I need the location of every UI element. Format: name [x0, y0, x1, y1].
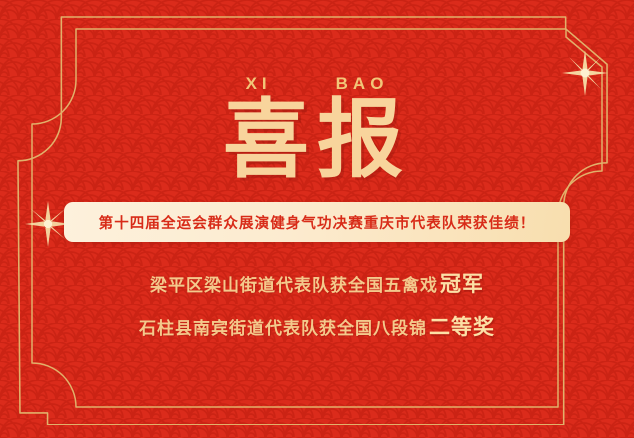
poster-content: XI BAO 喜报 第十四届全运会群众展演健身气功决赛重庆市代表队荣获佳绩！ 梁…: [0, 0, 634, 438]
achievement-list: 梁平区梁山街道代表队获全国五禽戏 冠军 石柱县南宾街道代表队获全国八段锦 二等奖: [139, 268, 495, 341]
achievement-body: 石柱县南宾街道代表队获全国八段锦: [139, 314, 427, 339]
achievement-award: 冠军: [440, 268, 484, 298]
headline-banner: 第十四届全运会群众展演健身气功决赛重庆市代表队荣获佳绩！: [64, 202, 570, 242]
achievement-body: 梁平区梁山街道代表队获全国五禽戏: [150, 271, 438, 296]
headline-text: 第十四届全运会群众展演健身气功决赛重庆市代表队荣获佳绩！: [99, 212, 536, 233]
list-item: 梁平区梁山街道代表队获全国五禽戏 冠军: [150, 268, 484, 298]
list-item: 石柱县南宾街道代表队获全国八段锦 二等奖: [139, 311, 495, 341]
xibao-poster: XI BAO 喜报 第十四届全运会群众展演健身气功决赛重庆市代表队荣获佳绩！ 梁…: [0, 0, 634, 438]
achievement-award: 二等奖: [429, 311, 495, 341]
page-title: 喜报: [223, 98, 411, 182]
